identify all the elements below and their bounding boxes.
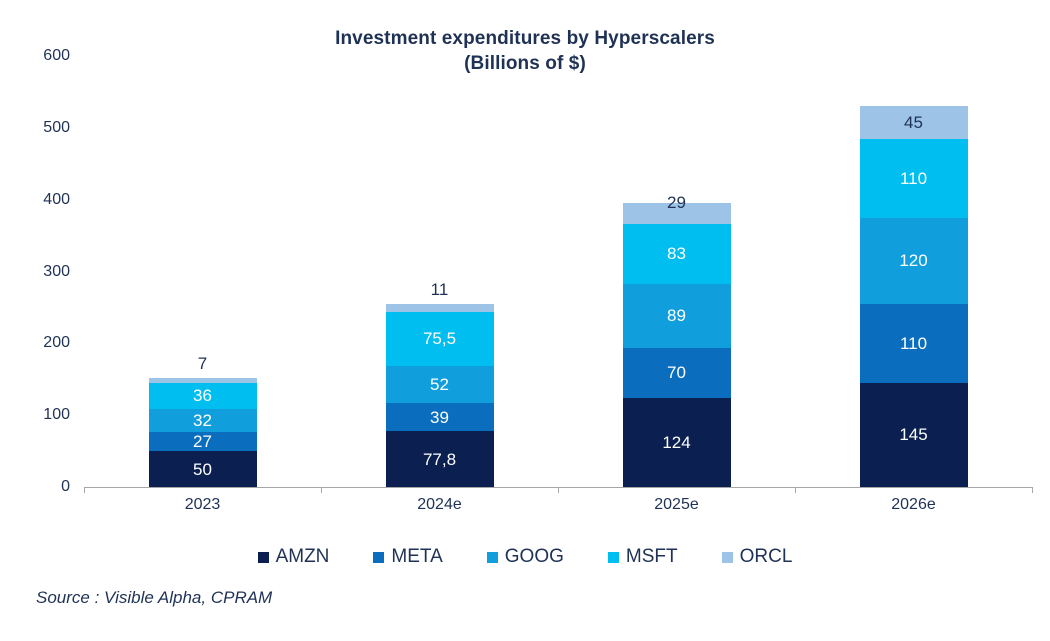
bar-segment-meta[interactable]: 110 [860, 304, 968, 383]
bar-segment-value: 45 [904, 114, 923, 131]
bar-segment-goog[interactable]: 120 [860, 218, 968, 304]
bar-segment-value: 89 [667, 307, 686, 324]
bar-segment-meta[interactable]: 39 [386, 403, 494, 431]
bar-segment-value: 77,8 [423, 451, 456, 468]
y-axis-tick-label: 400 [0, 191, 70, 209]
bar-group[interactable]: 1175,5523977,8 [386, 56, 494, 487]
legend-swatch-icon [258, 552, 269, 563]
legend-label: AMZN [276, 546, 330, 568]
legend-item-orcl[interactable]: ORCL [722, 546, 793, 568]
bar-group[interactable]: 29838970124 [623, 56, 731, 487]
bar-segment-amzn[interactable]: 124 [623, 398, 731, 487]
bar-segment-value: 29 [667, 194, 686, 211]
bar-segment-value: 70 [667, 364, 686, 381]
bar-segment-value: 110 [900, 170, 927, 187]
stacked-bar[interactable]: 45110120110145 [860, 106, 968, 487]
bar-segment-amzn[interactable]: 50 [149, 451, 257, 487]
bar-segment-value: 145 [899, 426, 927, 443]
bar-segment-msft[interactable]: 36 [149, 383, 257, 409]
legend-swatch-icon [487, 552, 498, 563]
bar-segment-value: 11 [431, 281, 449, 298]
x-axis-tick-label: 2024e [321, 496, 558, 514]
bar-segment-value: 7 [198, 355, 207, 372]
bar-segment-amzn[interactable]: 77,8 [386, 431, 494, 487]
y-axis: 6005004003002001000 [0, 56, 70, 487]
x-axis-tick [795, 487, 796, 493]
legend-item-goog[interactable]: GOOG [487, 546, 564, 568]
bar-group[interactable]: 736322750 [149, 56, 257, 487]
legend-label: GOOG [505, 546, 564, 568]
bar-segment-goog[interactable]: 32 [149, 409, 257, 432]
x-axis-tick-label: 2026e [795, 496, 1032, 514]
y-axis-tick-label: 300 [0, 263, 70, 281]
bar-segment-amzn[interactable]: 145 [860, 383, 968, 487]
bar-segment-orcl[interactable]: 11 [386, 304, 494, 312]
x-axis-tick-label: 2023 [84, 496, 321, 514]
bar-segment-value: 83 [667, 245, 686, 262]
y-axis-tick-label: 100 [0, 406, 70, 424]
stacked-bar[interactable]: 736322750 [149, 378, 257, 487]
bar-segment-meta[interactable]: 70 [623, 348, 731, 398]
legend-swatch-icon [373, 552, 384, 563]
bar-segment-orcl[interactable]: 45 [860, 106, 968, 138]
bar-segment-orcl[interactable]: 29 [623, 203, 731, 224]
y-axis-tick-label: 500 [0, 119, 70, 137]
bar-segment-msft[interactable]: 83 [623, 224, 731, 284]
y-axis-tick-label: 600 [0, 47, 70, 65]
bar-segment-value: 75,5 [423, 330, 456, 347]
legend-label: MSFT [626, 546, 678, 568]
bar-segment-value: 110 [900, 335, 927, 352]
y-axis-tick-label: 200 [0, 334, 70, 352]
legend-swatch-icon [608, 552, 619, 563]
bar-segment-meta[interactable]: 27 [149, 432, 257, 451]
bar-segment-value: 36 [193, 387, 212, 404]
source-note: Source : Visible Alpha, CPRAM [36, 588, 272, 608]
x-axis-tick [558, 487, 559, 493]
stacked-bar[interactable]: 29838970124 [623, 203, 731, 487]
bar-segment-value: 27 [193, 433, 212, 450]
legend-label: META [391, 546, 442, 568]
bar-segment-msft[interactable]: 75,5 [386, 312, 494, 366]
legend-item-meta[interactable]: META [373, 546, 442, 568]
bar-segment-value: 32 [193, 412, 212, 429]
x-axis-tick [1032, 487, 1033, 493]
y-axis-tick-label: 0 [0, 478, 70, 496]
bar-segment-value: 52 [430, 376, 449, 393]
bar-segment-goog[interactable]: 52 [386, 366, 494, 403]
bar-segment-msft[interactable]: 110 [860, 139, 968, 218]
bar-segment-value: 50 [193, 461, 212, 478]
x-axis: 20232024e2025e2026e [84, 496, 1032, 522]
bar-segment-goog[interactable]: 89 [623, 284, 731, 348]
bar-segment-value: 39 [430, 409, 449, 426]
legend: AMZNMETAGOOGMSFTORCL [0, 546, 1050, 568]
x-axis-tick [321, 487, 322, 493]
bar-segment-value: 124 [662, 434, 690, 451]
legend-label: ORCL [740, 546, 793, 568]
chart-title-main: Investment expenditures by Hyperscalers [335, 28, 715, 49]
bar-group[interactable]: 45110120110145 [860, 56, 968, 487]
legend-item-amzn[interactable]: AMZN [258, 546, 330, 568]
plot-area: 7363227501175,5523977,829838970124451101… [84, 56, 1032, 487]
legend-item-msft[interactable]: MSFT [608, 546, 678, 568]
x-axis-tick-label: 2025e [558, 496, 795, 514]
x-axis-tick [84, 487, 85, 493]
legend-swatch-icon [722, 552, 733, 563]
bar-segment-value: 120 [899, 252, 927, 269]
stacked-bar[interactable]: 1175,5523977,8 [386, 304, 494, 487]
